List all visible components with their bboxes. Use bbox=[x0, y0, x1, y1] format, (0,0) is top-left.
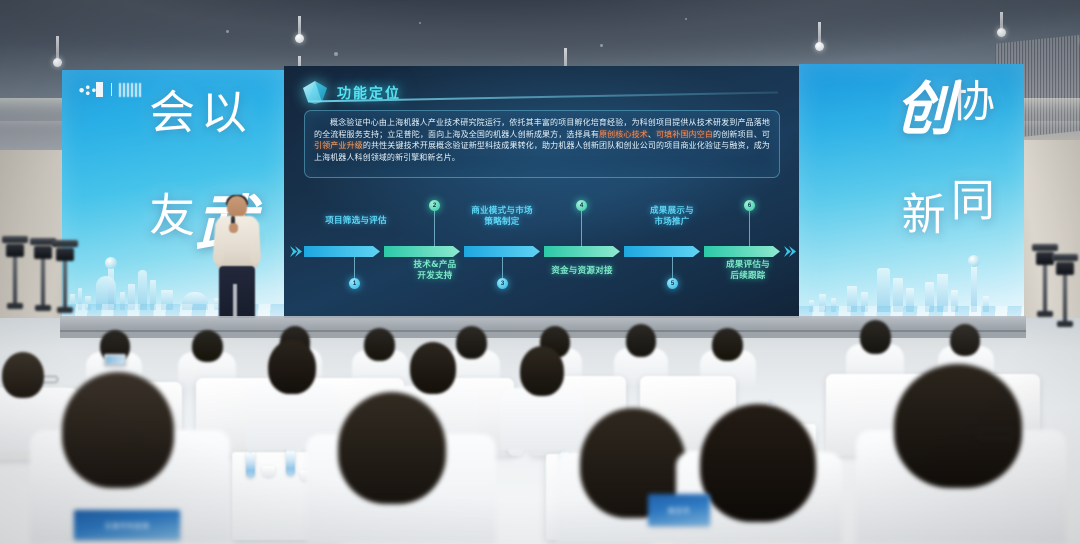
flow-step-5-number: 5 bbox=[671, 281, 674, 287]
presenter-trousers bbox=[219, 266, 255, 322]
audience-head bbox=[520, 346, 564, 396]
seat-placard-text: 南京市 bbox=[668, 506, 691, 516]
conference-photo: 以 武 会 友 bbox=[0, 0, 1080, 544]
flow-step-6-line2: 后续跟踪 bbox=[696, 271, 800, 282]
flow-bar-4 bbox=[544, 246, 620, 257]
led-panel-center-slide: 功能定位 概念验证中心由上海机器人产业技术研究院运行，依托其丰富的项目孵化培育经… bbox=[284, 66, 800, 328]
audience-head-foreground bbox=[62, 372, 174, 488]
audience-head bbox=[456, 326, 487, 359]
flow-start-arrow-icon bbox=[290, 246, 302, 257]
eyeglasses-icon bbox=[36, 376, 58, 383]
event-logo bbox=[76, 82, 141, 97]
flow-step-2-node[interactable]: 2 bbox=[429, 200, 440, 211]
seat-placard-text: 无锡市科技局 bbox=[105, 521, 150, 531]
flow-step-2-stem bbox=[434, 211, 435, 247]
flow-bar-1 bbox=[304, 246, 380, 257]
logo-wordmark bbox=[119, 83, 141, 97]
flow-end-arrow-icon bbox=[784, 246, 796, 257]
water-bottle bbox=[286, 450, 295, 476]
flow-step-5-line2: 市场推广 bbox=[622, 217, 722, 228]
flow-axis bbox=[300, 246, 784, 257]
eyeglasses-icon bbox=[978, 428, 1014, 439]
flow-step-4-stem bbox=[581, 211, 582, 247]
flow-step-1-line1: 项目筛选与评估 bbox=[325, 216, 387, 226]
flow-step-3-number: 3 bbox=[501, 281, 504, 287]
flow-step-5-stem bbox=[672, 257, 673, 279]
flow-step-3-label: 商业模式与市场 策略制定 bbox=[444, 206, 560, 228]
calligraphy-char: 新 bbox=[895, 191, 944, 238]
audience-member bbox=[500, 388, 584, 450]
led-video-wall: 以 武 会 友 bbox=[62, 64, 1024, 330]
flow-step-4-number: 4 bbox=[580, 203, 583, 209]
flow-step-6-label: 成果评估与 后续跟踪 bbox=[696, 260, 800, 282]
camera-right-2 bbox=[1052, 254, 1078, 327]
presenter-hand bbox=[229, 223, 238, 233]
presenter-head bbox=[227, 196, 247, 218]
paragraph-segment: 的共性关键技术开展概念验证新型科技成果转化，助力机器人创新团队和创业公司的项目商… bbox=[314, 141, 770, 162]
pendant-light bbox=[56, 36, 59, 62]
audience-head bbox=[2, 352, 44, 398]
pendant-light bbox=[818, 22, 821, 46]
audience-head bbox=[268, 340, 316, 394]
calligraphy-char: 以 bbox=[195, 88, 246, 137]
tea-cup bbox=[262, 466, 275, 477]
process-flow-diagram: 项目筛选与评估 1 2 技术&产品 开发支持 商业模式与市场 策略制定 3 bbox=[292, 194, 792, 302]
camera-left-3 bbox=[52, 240, 78, 313]
led-panel-right: 协 同 创 新 bbox=[799, 64, 1024, 326]
paragraph-highlight: 原创核心技术 bbox=[599, 130, 648, 139]
calligraphy-char: 会 bbox=[143, 88, 194, 137]
flow-step-3-line1: 商业模式与市场 bbox=[444, 206, 560, 217]
paragraph-segment: 的创新项目、可 bbox=[713, 130, 770, 139]
paragraph-highlight: 引领产业升级 bbox=[314, 141, 363, 150]
flow-bar-5 bbox=[624, 246, 700, 257]
water-bottle bbox=[246, 452, 255, 478]
flow-step-6-node[interactable]: 6 bbox=[744, 200, 755, 211]
oriental-pearl-tower bbox=[971, 264, 977, 312]
calligraphy-char-emphasis: 创 bbox=[887, 78, 952, 139]
audience-head-foreground bbox=[700, 404, 816, 522]
flow-step-2-label: 技术&产品 开发支持 bbox=[386, 260, 484, 282]
flow-step-2-line2: 开发支持 bbox=[386, 271, 484, 282]
pendant-light bbox=[1000, 12, 1003, 32]
slide-text-box: 概念验证中心由上海机器人产业技术研究院运行，依托其丰富的项目孵化培育经验，为科创… bbox=[304, 110, 780, 178]
logo-mark-icon bbox=[76, 82, 104, 97]
seat-placard: 无锡市科技局 bbox=[74, 510, 180, 540]
flow-step-1-number: 1 bbox=[353, 281, 356, 287]
flow-step-6-number: 6 bbox=[748, 203, 751, 209]
audience-head-foreground bbox=[894, 364, 1022, 488]
flow-bar-3 bbox=[464, 246, 540, 257]
slide-paragraph: 概念验证中心由上海机器人产业技术研究院运行，依托其丰富的项目孵化培育经验，为科创… bbox=[314, 117, 770, 163]
audience-head bbox=[192, 330, 223, 362]
presenter bbox=[214, 196, 260, 322]
calligraphy-char: 友 bbox=[143, 191, 194, 240]
flow-step-3-stem bbox=[502, 257, 503, 279]
audience-head bbox=[626, 324, 656, 357]
audience-head bbox=[410, 342, 456, 394]
audience-head-foreground bbox=[338, 392, 446, 504]
flow-step-5-line1: 成果展示与 bbox=[622, 206, 722, 217]
flow-step-4-label: 资金与资源对接 bbox=[526, 266, 638, 277]
paragraph-highlight: 可填补国内空白 bbox=[656, 130, 713, 139]
seat-placard: 南京市 bbox=[648, 494, 710, 526]
paragraph-segment: 、 bbox=[648, 130, 656, 139]
flow-step-3-line2: 策略制定 bbox=[444, 217, 560, 228]
audience-head bbox=[860, 320, 891, 354]
camera-left-1 bbox=[2, 236, 28, 309]
flow-step-1-label: 项目筛选与评估 bbox=[302, 216, 410, 227]
flow-step-2-number: 2 bbox=[433, 203, 436, 209]
audience-head bbox=[950, 324, 980, 356]
pendant-light bbox=[298, 16, 301, 38]
audience-head bbox=[712, 328, 743, 361]
calligraphy-char: 同 bbox=[944, 177, 993, 224]
flow-step-5-label: 成果展示与 市场推广 bbox=[622, 206, 722, 228]
flow-step-2-line1: 技术&产品 bbox=[386, 260, 484, 271]
flow-step-4-line1: 资金与资源对接 bbox=[551, 266, 613, 276]
flow-step-6-line1: 成果评估与 bbox=[696, 260, 800, 271]
presenter-arm-right bbox=[248, 220, 261, 265]
flow-step-1-node[interactable]: 1 bbox=[349, 278, 360, 289]
flow-bar-6 bbox=[704, 246, 780, 257]
audience-head bbox=[364, 328, 395, 361]
flow-step-6-stem bbox=[749, 211, 750, 247]
flow-step-5-node[interactable]: 5 bbox=[667, 278, 678, 289]
logo-divider bbox=[111, 83, 112, 96]
smartphone-recording[interactable] bbox=[104, 354, 126, 366]
flow-bar-2 bbox=[384, 246, 460, 257]
flow-step-4-node[interactable]: 4 bbox=[576, 200, 587, 211]
flow-step-3-node[interactable]: 3 bbox=[497, 278, 508, 289]
flow-step-1-stem bbox=[354, 257, 355, 279]
